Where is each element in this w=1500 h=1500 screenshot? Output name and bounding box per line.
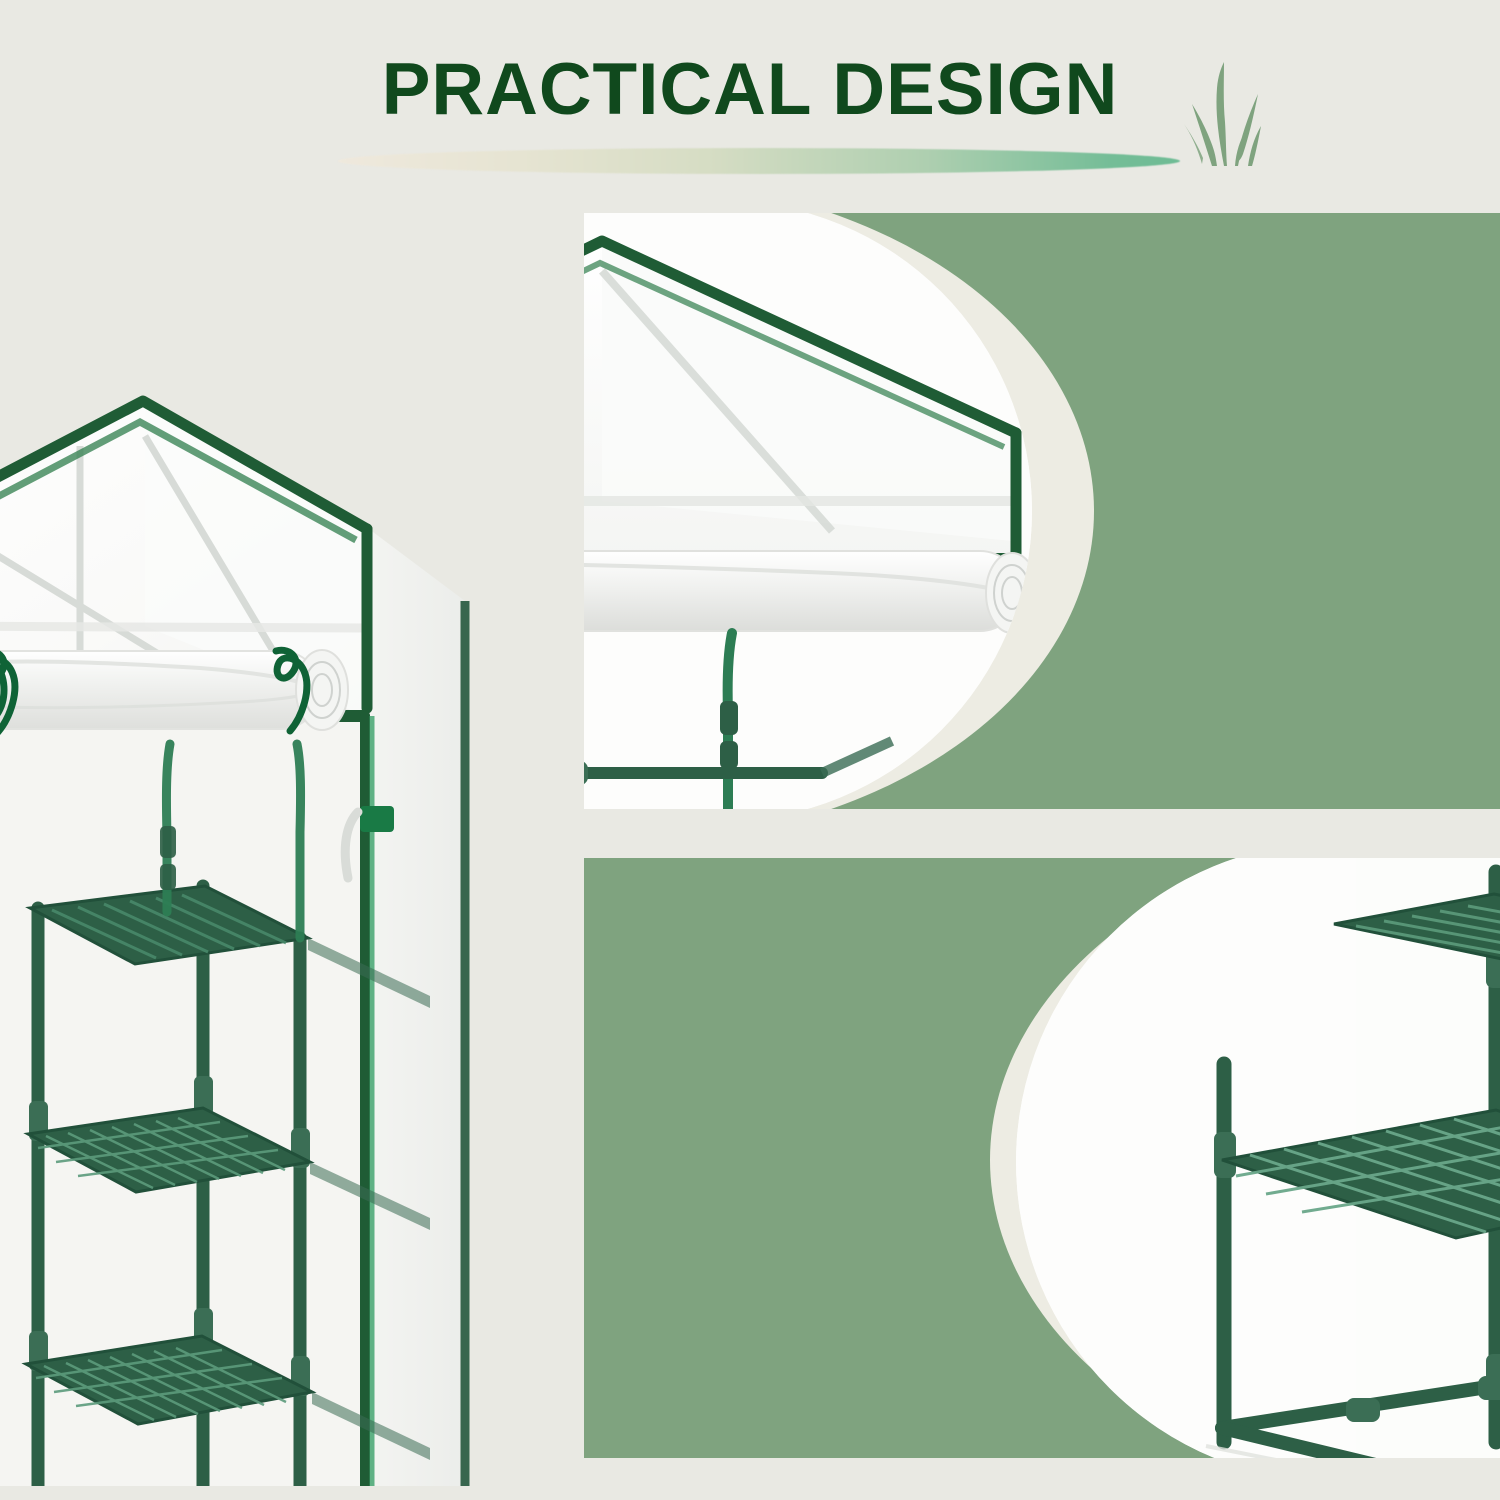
feature-panel-zippered-door: Zippered Roll-up Door Easy to access <box>584 213 1500 809</box>
hero-product-photo <box>0 196 560 1486</box>
greenhouse-illustration <box>0 196 560 1486</box>
grass-icon <box>1178 58 1278 168</box>
header: PRACTICAL DESIGN <box>0 0 1500 200</box>
infographic-canvas: PRACTICAL DESIGN <box>0 0 1500 1500</box>
rolled-door <box>0 650 348 732</box>
feature-panel-flower-shelf: Flower Shelf Provides ample space to pac… <box>584 858 1500 1458</box>
flower-shelf-closeup <box>1016 858 1500 1458</box>
title-underline-decoration <box>338 148 1180 174</box>
feature-photo-flower-shelf <box>1016 858 1500 1458</box>
